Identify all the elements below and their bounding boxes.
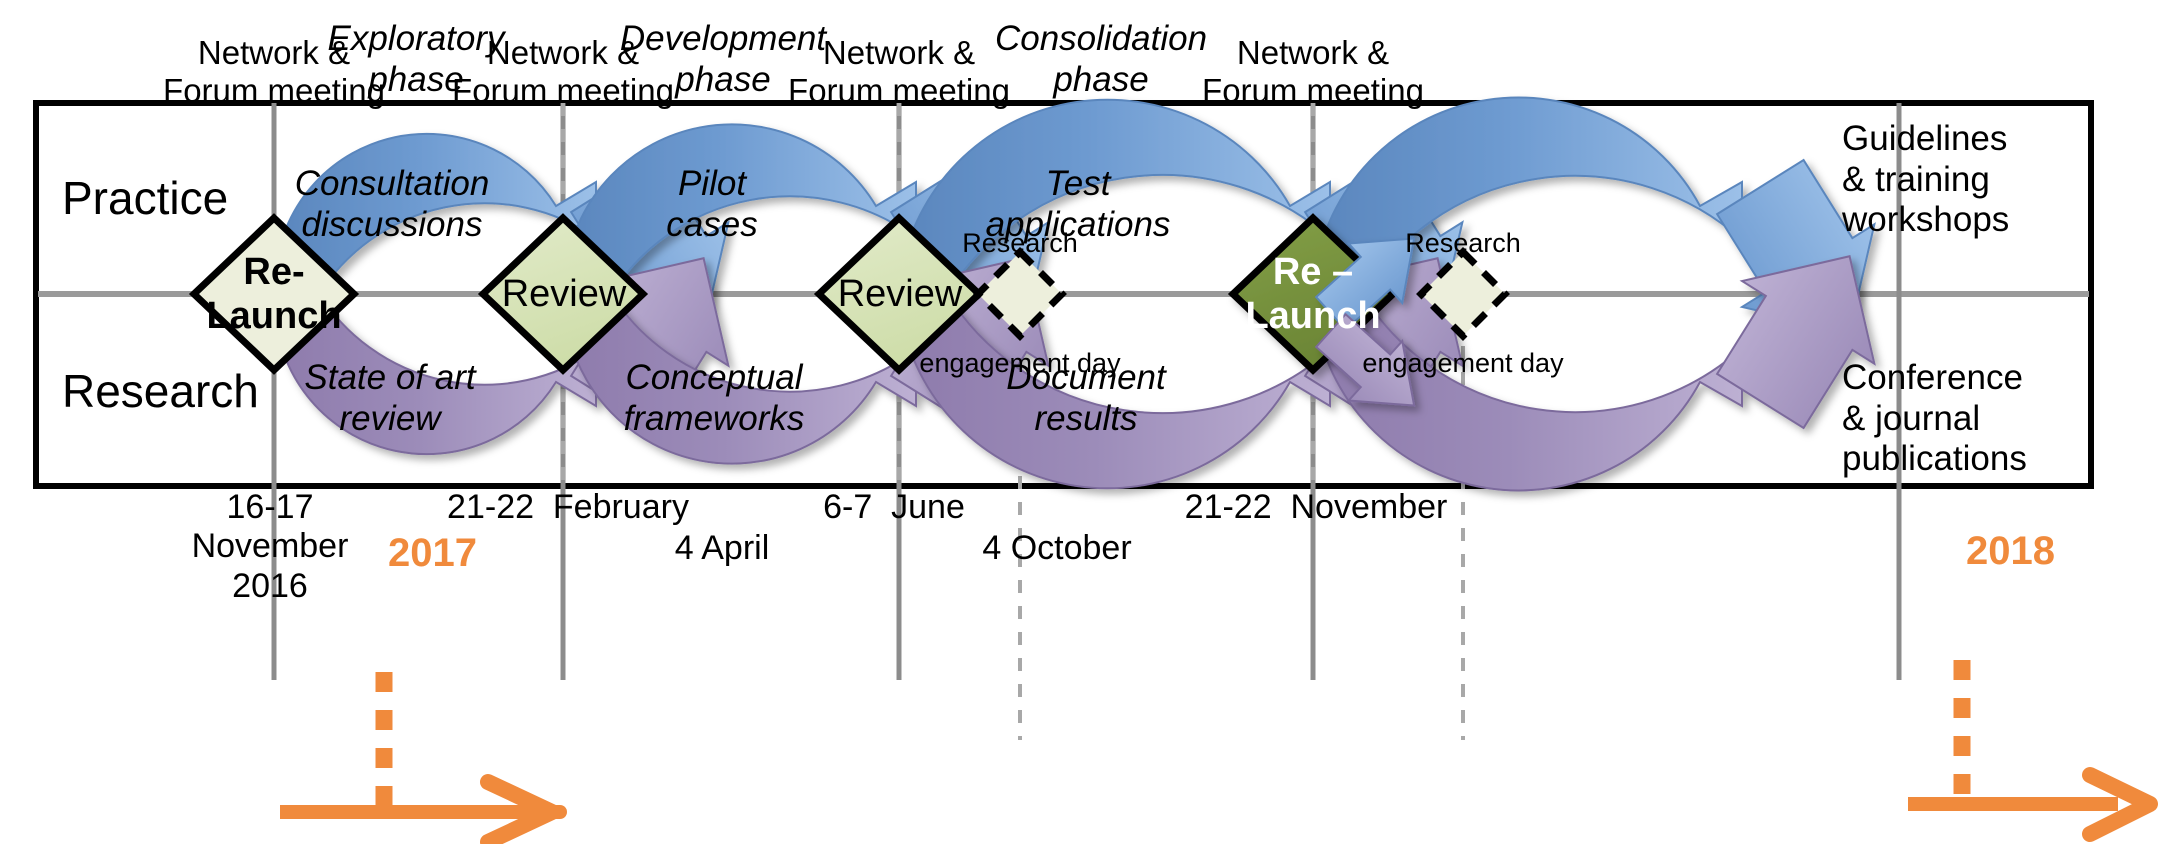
date-nov-2016: 16-17November2016	[192, 488, 349, 606]
milestone-label-review-1: Review	[502, 272, 627, 316]
milestone-label-relaunch-end: Re –Launch	[1245, 250, 1380, 338]
diagram-canvas: Network &Forum meeting Exploratoryphase …	[0, 0, 2162, 844]
date-nov-2017: 21-22 November	[1185, 488, 1448, 527]
milestone-label-review-2: Review	[838, 272, 963, 316]
engagement-day-label-above-2: Research	[1405, 228, 1521, 259]
research-arrow-label-1: State of artreview	[304, 358, 475, 439]
label-meeting-4: Network &Forum meeting	[1202, 34, 1424, 111]
output-guidelines: Guidelines& trainingworkshops	[1842, 119, 2009, 241]
year-marker-2017-label: 2017	[388, 530, 477, 576]
label-phase-3: Consolidationphase	[995, 19, 1207, 100]
research-arrow-label-2: Conceptualframeworks	[624, 358, 805, 439]
engagement-day-label-below-1: engagement day	[919, 348, 1120, 379]
row-label-practice: Practice	[62, 172, 228, 225]
date-apr: 4 April	[675, 529, 770, 568]
output-publications: Conference& journalpublications	[1842, 358, 2027, 480]
year-marker-2018-line	[1908, 660, 2150, 834]
date-oct: 4 October	[982, 529, 1131, 568]
label-meeting-3: Network &Forum meeting	[788, 34, 1010, 111]
date-jun: 6-7 June	[823, 488, 965, 527]
engagement-day-label-below-2: engagement day	[1362, 348, 1563, 379]
practice-arrow-label-1: Consultationdiscussions	[295, 164, 490, 245]
year-marker-2018-label: 2018	[1966, 528, 2055, 574]
date-feb: 21-22 February	[447, 488, 689, 527]
year-marker-2017-line	[280, 672, 560, 842]
practice-arrow-label-2: Pilotcases	[666, 164, 757, 245]
milestone-label-relaunch-start: Re-Launch	[206, 250, 341, 338]
row-label-research: Research	[62, 365, 259, 418]
engagement-day-label-above-1: Research	[962, 228, 1078, 259]
